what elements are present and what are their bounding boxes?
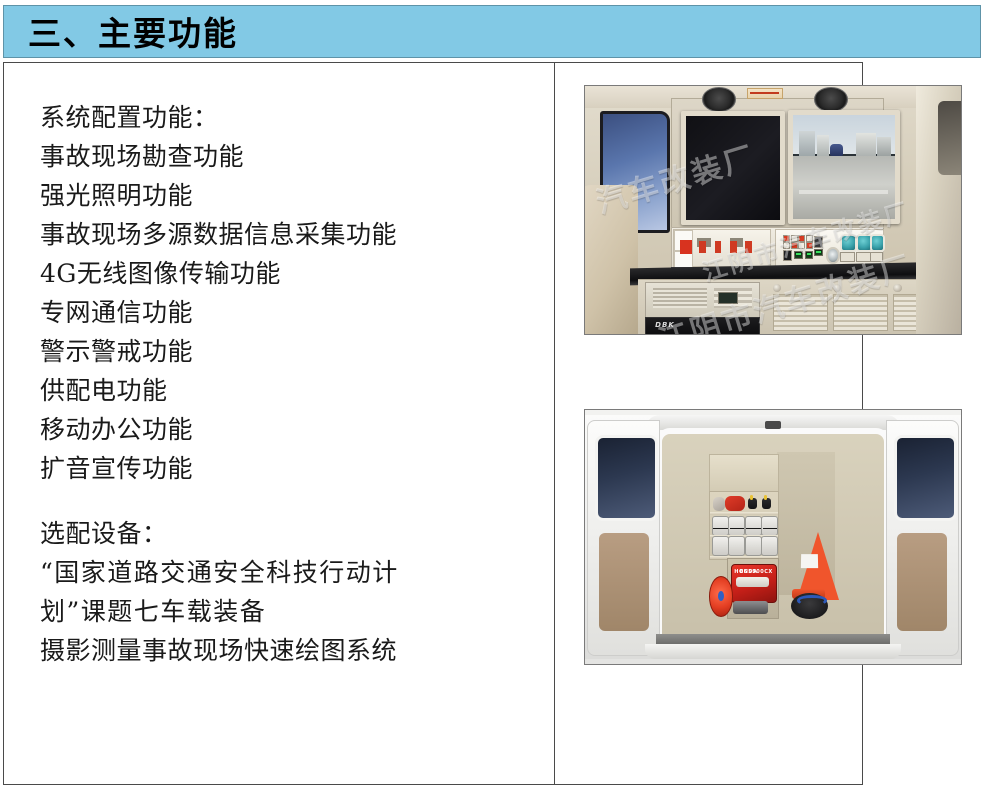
storage-bin bbox=[728, 536, 745, 555]
white-button bbox=[806, 235, 813, 242]
bin-strap bbox=[763, 528, 777, 529]
led-indicator bbox=[805, 251, 813, 259]
feed-vehicle bbox=[830, 144, 843, 156]
photo-van-rear-equipment: HONDA EG5500CX bbox=[584, 409, 962, 665]
stored-red-equipment bbox=[725, 496, 746, 511]
optional-equipment-item: “国家道路交通安全科技行动计 bbox=[40, 553, 540, 592]
rear-door-right bbox=[886, 420, 959, 656]
feed-building bbox=[799, 131, 815, 158]
storage-bin bbox=[712, 536, 729, 555]
shelf-board bbox=[710, 512, 779, 515]
feed-building bbox=[856, 133, 876, 158]
led-indicator bbox=[794, 251, 802, 259]
feature-item: 移动办公功能 bbox=[40, 410, 540, 449]
rear-bumper bbox=[645, 644, 901, 659]
feature-item: 强光照明功能 bbox=[40, 176, 540, 215]
equipment-shelving-unit bbox=[709, 491, 780, 560]
storage-bin bbox=[761, 516, 778, 535]
red-button bbox=[806, 242, 813, 249]
meter-segment bbox=[745, 241, 752, 253]
ceiling-speaker-icon bbox=[814, 87, 848, 111]
feature-item: 事故现场勘查功能 bbox=[40, 137, 540, 176]
stored-tool bbox=[748, 498, 757, 509]
portable-generator: HONDA EG5500CX bbox=[731, 564, 778, 603]
dbk-amplifier: DBK bbox=[645, 317, 760, 335]
label-plate bbox=[840, 252, 855, 262]
amplifier-brand-label: DBK bbox=[655, 321, 675, 329]
cabinet-louver-vent bbox=[833, 294, 888, 331]
rear-door-opening: HONDA EG5500CX bbox=[656, 428, 889, 644]
upper-storage-panel bbox=[709, 454, 780, 495]
photo-command-cabin-interior: DBK 汽车改装厂 江阴市汽车改装厂 江阴市汽车改装厂 bbox=[584, 85, 962, 335]
feature-item: 供配电功能 bbox=[40, 371, 540, 410]
rear-door-left bbox=[587, 420, 660, 656]
cabinet-lock bbox=[893, 284, 901, 292]
red-button bbox=[783, 235, 790, 242]
features-text-column: 系统配置功能： 事故现场勘查功能 强光照明功能 事故现场多源数据信息采集功能 4… bbox=[40, 98, 540, 670]
label-plate bbox=[870, 252, 883, 262]
feed-road-marking bbox=[799, 190, 888, 194]
monitor-left-display bbox=[681, 111, 785, 225]
cabinet-louver-vent bbox=[773, 294, 828, 331]
ceiling-speaker-icon bbox=[702, 87, 736, 111]
rotary-knob bbox=[870, 234, 885, 252]
label-plate bbox=[856, 252, 871, 262]
feature-item: 扩音宣传功能 bbox=[40, 449, 540, 488]
white-button bbox=[798, 242, 805, 249]
status-screen bbox=[718, 292, 738, 304]
feature-item: 专网通信功能 bbox=[40, 293, 540, 332]
meter-segment bbox=[715, 241, 722, 253]
red-button bbox=[798, 235, 805, 242]
meter-segment bbox=[699, 241, 706, 253]
led-indicator bbox=[814, 249, 822, 257]
switch-control-panel bbox=[775, 229, 884, 267]
slide-header-bar: 三、主要功能 bbox=[3, 5, 981, 58]
hose-blue-strap bbox=[797, 595, 828, 606]
warning-label bbox=[747, 88, 783, 99]
page-title: 三、主要功能 bbox=[28, 7, 238, 55]
generator-control-face bbox=[736, 577, 769, 587]
feed-building bbox=[877, 137, 891, 158]
bin-strap bbox=[746, 528, 760, 529]
section-heading-system-config: 系统配置功能： bbox=[40, 98, 540, 137]
cable-reel bbox=[709, 576, 733, 617]
toggle-switch bbox=[783, 250, 791, 261]
optional-equipment-item: 摄影测量事故现场快速绘图系统 bbox=[40, 631, 540, 670]
optional-equipment-item: 划”课题七车载装备 bbox=[40, 592, 540, 631]
stored-tool bbox=[762, 498, 771, 509]
feature-item: 事故现场多源数据信息采集功能 bbox=[40, 215, 540, 254]
feed-building bbox=[817, 135, 828, 158]
feed-ground bbox=[793, 156, 895, 218]
ventilation-grille bbox=[653, 288, 707, 308]
slide-root: 三、主要功能 系统配置功能： 事故现场勘查功能 强光照明功能 事故现场多源数据信… bbox=[0, 0, 1000, 787]
door-interior-panel bbox=[599, 533, 649, 631]
traffic-cone-reflective-band bbox=[801, 554, 819, 568]
storage-bin bbox=[745, 516, 762, 535]
storage-bin bbox=[745, 536, 762, 555]
rack-mount-computer bbox=[645, 282, 760, 319]
storage-bin bbox=[728, 516, 745, 535]
column-divider bbox=[554, 62, 555, 785]
section-heading-optional-equipment: 选配设备： bbox=[40, 514, 540, 553]
feature-item: 4G无线图像传输功能 bbox=[40, 254, 540, 293]
feature-item: 警示警戒功能 bbox=[40, 332, 540, 371]
generator-engine-block bbox=[733, 601, 769, 614]
rotary-knob bbox=[840, 234, 857, 252]
generator-compartment: HONDA EG5500CX bbox=[727, 558, 780, 619]
meter-segment bbox=[730, 241, 737, 253]
coiled-hose bbox=[791, 593, 829, 620]
bin-strap bbox=[713, 528, 727, 529]
storage-bin bbox=[712, 516, 729, 535]
analog-gauge bbox=[826, 247, 840, 263]
rocker-switch bbox=[814, 236, 822, 249]
cabin-door-window bbox=[938, 101, 961, 175]
stored-gear-bag bbox=[713, 497, 725, 510]
red-button bbox=[791, 242, 798, 249]
door-interior-panel bbox=[897, 533, 947, 631]
door-window bbox=[894, 435, 957, 520]
bin-strap bbox=[730, 528, 744, 529]
door-window bbox=[595, 435, 658, 520]
section-spacer bbox=[40, 488, 540, 514]
cabin-seat bbox=[584, 185, 638, 334]
power-distribution-panel bbox=[673, 229, 771, 267]
meter-indicator bbox=[680, 240, 692, 254]
storage-bin bbox=[761, 536, 778, 555]
monitor-right-camera-feed bbox=[788, 110, 900, 224]
rear-door-latch bbox=[765, 421, 780, 429]
white-button bbox=[791, 235, 798, 242]
white-button bbox=[783, 242, 790, 249]
generator-model-label: EG5500CX bbox=[740, 569, 773, 575]
